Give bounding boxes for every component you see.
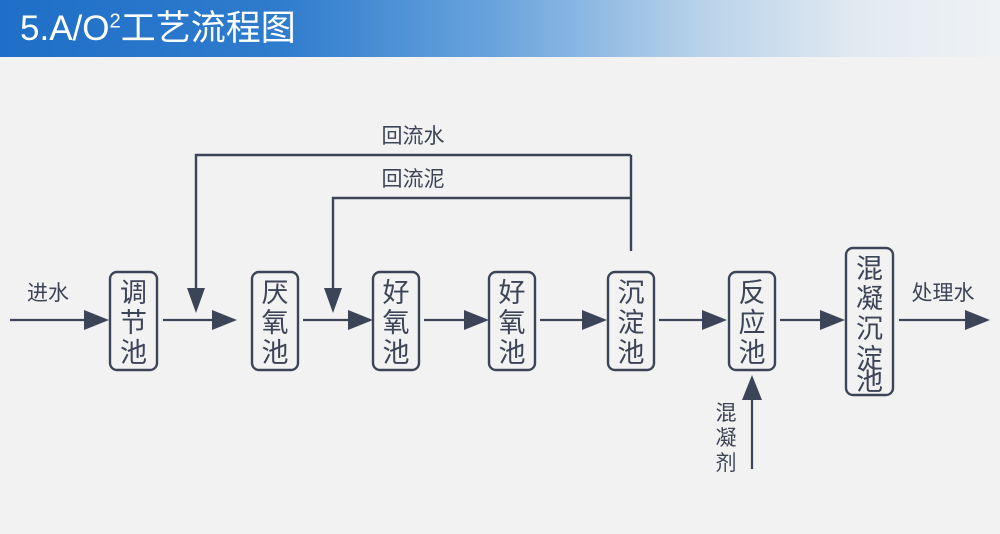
inlet-arrowhead bbox=[84, 310, 109, 330]
connector-6-arrowhead bbox=[820, 310, 845, 330]
unit-chendian-char-1: 淀 bbox=[618, 308, 645, 338]
unit-yanyang-char-0: 厌 bbox=[262, 278, 289, 308]
coagulant-label-char-2: 剂 bbox=[716, 452, 737, 475]
unit-hunning-chendian-char-1: 凝 bbox=[856, 284, 883, 314]
unit-hunning-chendian-char-2: 沉 bbox=[856, 314, 883, 344]
connector-3-arrowhead bbox=[464, 310, 489, 330]
return-water-arrowhead bbox=[187, 288, 205, 313]
unit-yanyang[interactable]: 厌 氧 池 bbox=[252, 272, 298, 370]
unit-tiaojie-char-1: 节 bbox=[120, 308, 147, 338]
page-title: 5.A/O2工艺流程图 bbox=[20, 3, 296, 55]
page-header: 5.A/O2工艺流程图 bbox=[0, 0, 1000, 57]
connector-yanyang-to-haoyang1 bbox=[303, 310, 373, 330]
unit-fanying[interactable]: 反 应 池 bbox=[729, 272, 775, 370]
unit-haoyang-1-char-1: 氧 bbox=[383, 308, 410, 338]
unit-haoyang-2-char-0: 好 bbox=[499, 278, 526, 308]
unit-haoyang-1-char-0: 好 bbox=[383, 278, 410, 308]
connector-haoyang1-to-haoyang2 bbox=[424, 310, 489, 330]
unit-fanying-char-2: 池 bbox=[739, 338, 766, 368]
inlet-label: 进水 bbox=[27, 282, 69, 305]
unit-chendian-char-2: 池 bbox=[618, 338, 645, 368]
return-sludge-arrowhead bbox=[324, 288, 342, 313]
unit-haoyang-1-char-2: 池 bbox=[383, 338, 410, 368]
unit-hunning-chendian[interactable]: 混 凝 沉 淀 池 bbox=[846, 248, 893, 396]
coagulant-dosing-stream: 混 凝 剂 bbox=[716, 375, 763, 475]
connector-tiaojie-to-yanyang bbox=[163, 310, 237, 330]
unit-haoyang-1[interactable]: 好 氧 池 bbox=[373, 272, 419, 370]
return-water-label: 回流水 bbox=[382, 125, 445, 148]
unit-hunning-chendian-char-0: 混 bbox=[856, 254, 883, 284]
connector-2-arrowhead bbox=[348, 310, 373, 330]
coagulant-label-char-0: 混 bbox=[716, 402, 737, 425]
page-title-suffix: 工艺流程图 bbox=[121, 9, 296, 48]
connector-1-arrowhead bbox=[212, 310, 237, 330]
connector-5-arrowhead bbox=[702, 310, 727, 330]
unit-yanyang-char-2: 池 bbox=[262, 338, 289, 368]
diagram-canvas: 回流水 回流泥 进水 调 节 池 bbox=[0, 57, 1000, 534]
unit-haoyang-2[interactable]: 好 氧 池 bbox=[489, 272, 535, 370]
unit-fanying-char-1: 应 bbox=[739, 308, 766, 338]
inlet-stream: 进水 bbox=[10, 282, 109, 330]
outlet-label: 处理水 bbox=[912, 282, 975, 305]
coagulant-label-char-1: 凝 bbox=[716, 427, 737, 450]
unit-hunning-chendian-char-4: 池 bbox=[856, 366, 883, 396]
unit-tiaojie-char-2: 池 bbox=[120, 338, 147, 368]
coagulant-dosing-arrowhead bbox=[742, 375, 762, 400]
connector-haoyang2-to-chendian bbox=[540, 310, 607, 330]
unit-chendian-char-0: 沉 bbox=[618, 278, 645, 308]
connector-4-arrowhead bbox=[582, 310, 607, 330]
unit-tiaojie-char-0: 调 bbox=[120, 278, 147, 308]
unit-chendian[interactable]: 沉 淀 池 bbox=[608, 272, 654, 370]
return-sludge-stream: 回流泥 bbox=[324, 168, 631, 313]
outlet-arrowhead bbox=[965, 310, 990, 330]
page-title-superscript: 2 bbox=[109, 10, 120, 32]
unit-yanyang-char-1: 氧 bbox=[262, 308, 289, 338]
unit-haoyang-2-char-1: 氧 bbox=[499, 308, 526, 338]
unit-tiaojie[interactable]: 调 节 池 bbox=[110, 272, 157, 370]
outlet-stream: 处理水 bbox=[899, 282, 990, 330]
unit-haoyang-2-char-2: 池 bbox=[499, 338, 526, 368]
unit-fanying-char-0: 反 bbox=[739, 278, 766, 308]
return-sludge-label: 回流泥 bbox=[382, 168, 445, 191]
connector-fanying-to-hunning bbox=[780, 310, 845, 330]
page-title-prefix: 5.A/O bbox=[20, 9, 109, 48]
process-flow-diagram: 回流水 回流泥 进水 调 节 池 bbox=[0, 57, 1000, 534]
connector-chendian-to-fanying bbox=[659, 310, 727, 330]
